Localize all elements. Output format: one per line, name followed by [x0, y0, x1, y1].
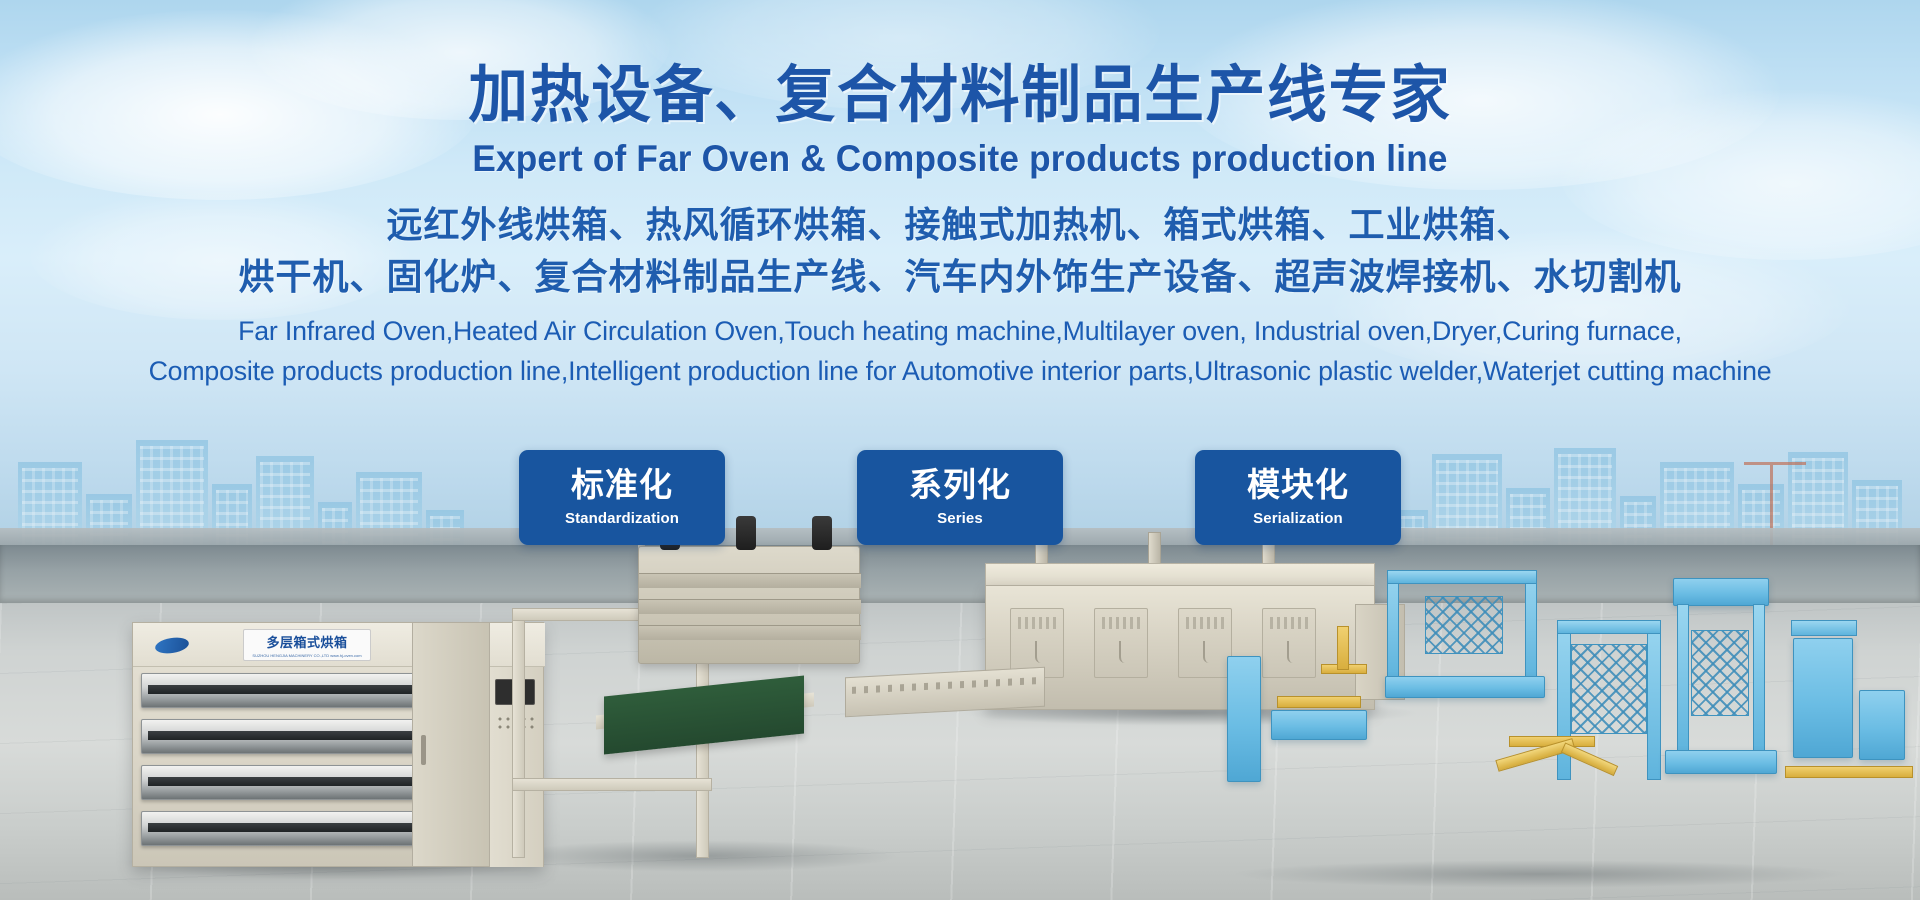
line-base: [1385, 676, 1545, 698]
oven-tray: [141, 673, 429, 708]
line-cabinet: [1227, 656, 1261, 782]
oven-placard-subtitle: SUZHOU HENGJIA MACHINERY CO.,LTD www.hj-…: [252, 653, 361, 658]
line-conveyor-section: [1271, 710, 1367, 740]
manufacturer-logo-icon: [155, 634, 221, 656]
logo-swoosh-icon: [154, 635, 190, 655]
product-banner: 多层箱式烘箱 SUZHOU HENGJIA MACHINERY CO.,LTD …: [0, 0, 1920, 900]
line-overhead-beam: [1673, 578, 1769, 606]
badge-label-cn: 系列化: [909, 468, 1011, 503]
badge-label-cn: 标准化: [571, 468, 673, 503]
press-frame-beam: [512, 778, 712, 791]
subtitle-english-line-2: Composite products production line,Intel…: [10, 353, 1911, 391]
tunnel-hatch: [1094, 608, 1148, 678]
line-gantry-beam: [1387, 570, 1537, 584]
subtitle-chinese-line-1: 远红外线烘箱、热风循环烘箱、接触式加热机、箱式烘箱、工业烘箱、: [0, 202, 1920, 250]
oven-placard: 多层箱式烘箱 SUZHOU HENGJIA MACHINERY CO.,LTD …: [243, 629, 371, 661]
platen-band: [639, 599, 861, 614]
oven-tray-stack: [141, 671, 429, 861]
line-cabinet: [1859, 690, 1905, 760]
line-lattice-guard: [1571, 644, 1647, 734]
badge-label-en: Standardization: [565, 510, 679, 527]
headline-english: Expert of Far Oven & Composite products …: [48, 138, 1872, 180]
line-base: [1665, 750, 1777, 774]
line-post: [1525, 570, 1537, 678]
line-cabinet: [1793, 638, 1853, 758]
badge-serialization[interactable]: 模块化 Serialization: [1195, 450, 1401, 545]
line-post: [1753, 604, 1765, 754]
platen-band: [639, 573, 861, 588]
line-yellow-post: [1337, 626, 1349, 670]
line-cabinet-top: [1791, 620, 1857, 636]
headline-chinese: 加热设备、复合材料制品生产线专家: [38, 64, 1881, 126]
subtitle-chinese-line-2: 烘干机、固化炉、复合材料制品生产线、汽车内外饰生产设备、超声波焊接机、水切割机: [0, 254, 1920, 302]
badge-series[interactable]: 系列化 Series: [857, 450, 1063, 545]
line-post: [1387, 570, 1399, 678]
line-post: [1677, 604, 1689, 754]
line-lattice-guard: [1691, 630, 1749, 716]
line-yellow-rail: [1277, 696, 1361, 708]
oven-placard-title: 多层箱式烘箱: [266, 632, 347, 651]
line-post: [1647, 620, 1661, 780]
press-platen-stack: [638, 546, 860, 664]
banner-text-block: 加热设备、复合材料制品生产线专家 Expert of Far Oven & Co…: [0, 0, 1920, 391]
badge-label-en: Series: [937, 510, 983, 527]
press-frame-post: [512, 608, 525, 858]
badge-label-cn: 模块化: [1247, 468, 1349, 503]
badge-standardization[interactable]: 标准化 Standardization: [519, 450, 725, 545]
line-lattice-guard: [1425, 596, 1503, 654]
laminating-press-machine: [508, 508, 868, 860]
oven-tray: [141, 719, 429, 754]
automation-production-line: [1225, 560, 1920, 890]
feature-badge-group: 标准化 Standardization 系列化 Series 模块化 Seria…: [0, 450, 1920, 545]
line-gantry-beam: [1557, 620, 1661, 634]
oven-tray: [141, 765, 429, 800]
platen-band: [639, 625, 861, 640]
subtitle-english-line-1: Far Infrared Oven,Heated Air Circulation…: [10, 313, 1911, 351]
badge-label-en: Serialization: [1253, 510, 1343, 527]
oven-tray: [141, 811, 429, 846]
oven-side-door: [412, 622, 490, 867]
press-conveyor-belt: [604, 675, 804, 754]
line-yellow-rail: [1785, 766, 1913, 778]
tunnel-hatch: [1178, 608, 1232, 678]
